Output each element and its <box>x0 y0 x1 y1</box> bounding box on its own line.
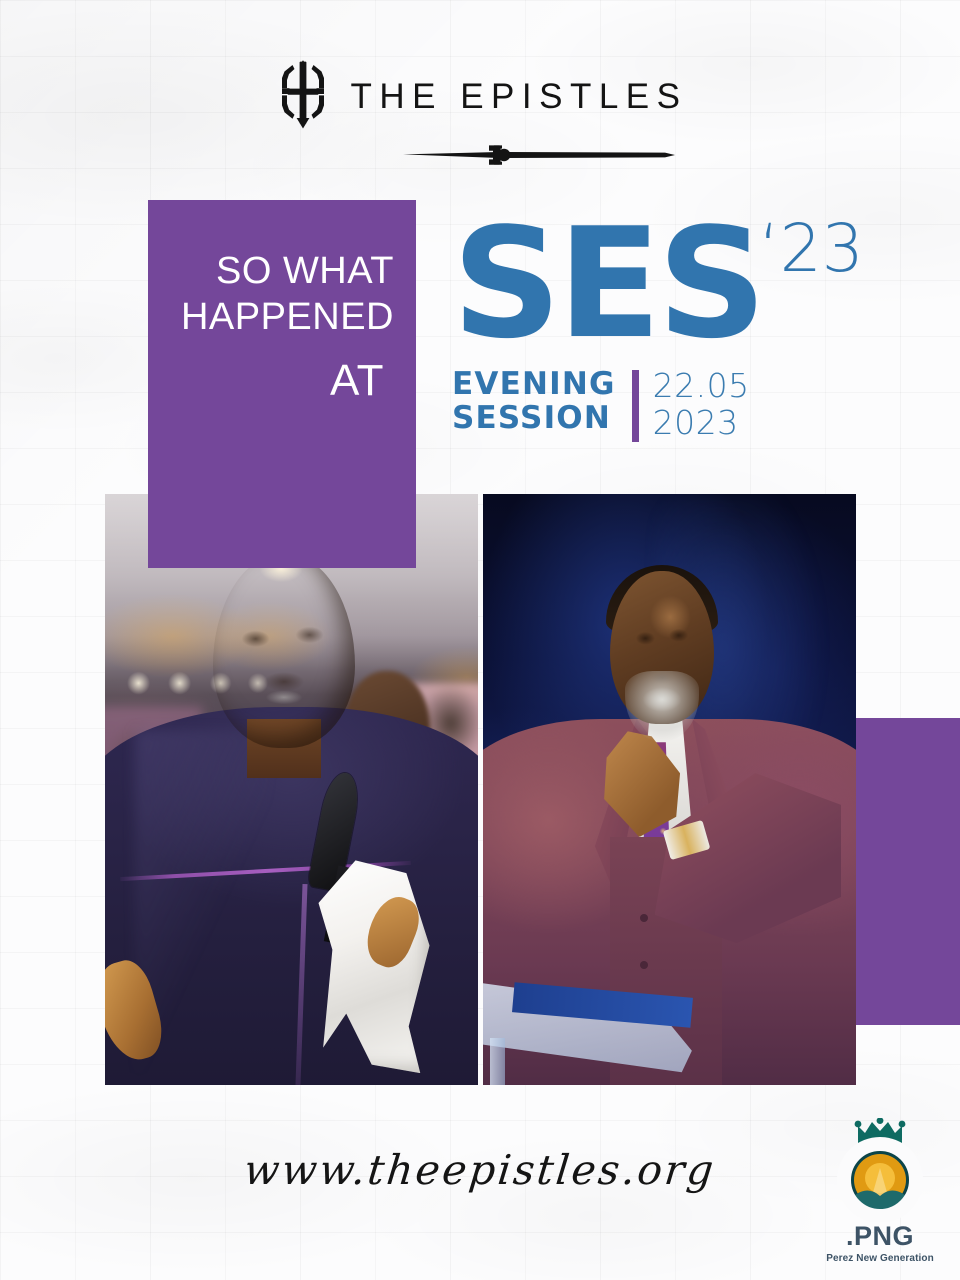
event-acronym: SES <box>452 212 763 356</box>
brand-logo: THE EPISTLES <box>0 58 960 173</box>
epistles-hexagon-sword-emblem-icon <box>272 58 334 135</box>
png-circle-emblem-icon <box>832 1118 928 1222</box>
right-photo-podium-stem <box>490 1038 505 1085</box>
event-session-line-1: EVENING <box>452 368 616 401</box>
event-date-group: 22.05 2023 <box>653 368 750 442</box>
headline-text-group: SO WHAT HAPPENED AT <box>166 248 394 408</box>
poster-canvas: THE EPISTLES <box>0 0 960 1280</box>
event-session-line-2: SESSION <box>452 402 616 435</box>
event-acronym-row: SES ‘23 <box>452 212 864 356</box>
speaker-photo-right <box>483 494 856 1085</box>
session-date-divider <box>632 370 639 442</box>
headline-purple-panel: SO WHAT HAPPENED AT <box>148 200 416 568</box>
headline-line-1: SO WHAT <box>166 248 394 294</box>
right-speaker-vest-button <box>640 914 648 922</box>
brand-wordmark: THE EPISTLES <box>350 79 687 114</box>
headline-line-2: HAPPENED <box>166 294 394 340</box>
event-year-tag: ‘23 <box>759 216 864 282</box>
event-date-line-1: 22.05 <box>653 368 750 405</box>
speaker-photo-left <box>105 494 478 1085</box>
png-logo-tagline: Perez New Generation <box>826 1253 934 1264</box>
event-session-label: EVENING SESSION <box>452 368 616 435</box>
event-date-line-2: 2023 <box>653 405 750 442</box>
purple-accent-block <box>855 718 960 1025</box>
brand-logo-row: THE EPISTLES <box>272 58 687 135</box>
horizontal-sword-divider-icon <box>403 142 675 173</box>
event-session-row: EVENING SESSION 22.05 2023 <box>452 368 864 442</box>
headline-line-3: AT <box>166 354 384 408</box>
png-logo: .PNG Perez New Generation <box>812 1118 948 1270</box>
png-logo-name: .PNG <box>846 1223 914 1250</box>
event-title-block: SES ‘23 EVENING SESSION 22.05 2023 <box>452 212 864 442</box>
right-speaker-vest-button <box>640 961 648 969</box>
